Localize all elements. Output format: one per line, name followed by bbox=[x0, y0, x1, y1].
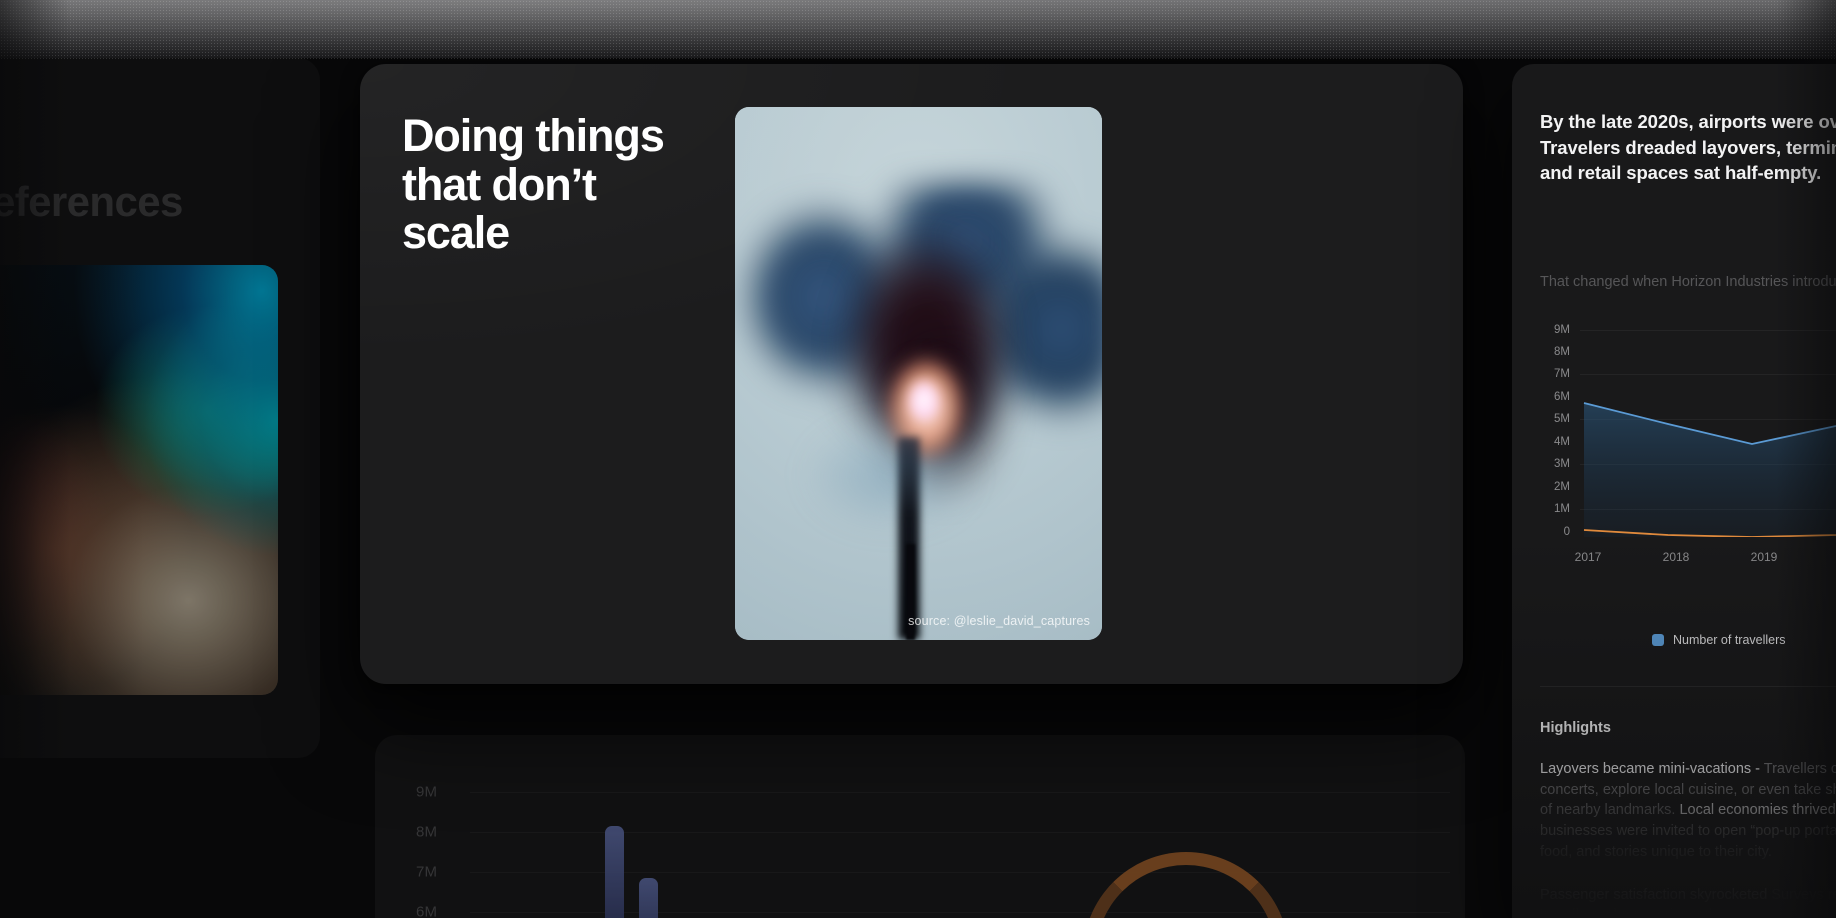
highlights-body: Layovers became mini-vacations - Travell… bbox=[1540, 759, 1836, 918]
divider bbox=[1540, 686, 1836, 687]
main-content-card: Doing things that don’t scale source: @l… bbox=[360, 64, 1463, 684]
right-panel-sub-text: That changed when Horizon Industries int… bbox=[1540, 272, 1836, 292]
highlight-item: Layovers became mini-vacations - Travell… bbox=[1540, 759, 1836, 863]
highlight-lead-2: Local economies thrived bbox=[1679, 802, 1836, 818]
y-tick-label: 5M bbox=[1540, 413, 1570, 425]
x-tick-label: 2018 bbox=[1663, 550, 1690, 564]
travellers-area bbox=[1584, 403, 1836, 537]
x-tick-label: 2017 bbox=[1575, 550, 1602, 564]
y-tick-label: 1M bbox=[1540, 503, 1570, 515]
y-tick-label: 0 bbox=[1540, 526, 1570, 538]
highlight-lead: Layovers became mini-vacations - bbox=[1540, 761, 1764, 777]
page-title: Doing things that don’t scale bbox=[402, 112, 702, 258]
gradient-dither bbox=[0, 265, 278, 695]
y-tick-label: 7M bbox=[1540, 368, 1570, 380]
bg-bar bbox=[605, 826, 624, 918]
y-tick-label: 3M bbox=[1540, 458, 1570, 470]
gradient-artwork-card[interactable] bbox=[0, 265, 278, 695]
y-tick-label: 9M bbox=[1540, 324, 1570, 336]
x-tick-label: 2019 bbox=[1751, 550, 1778, 564]
bg-bar bbox=[639, 878, 658, 918]
highlights-title: Highlights bbox=[1540, 720, 1611, 736]
photo-source-caption: source: @leslie_david_captures bbox=[908, 614, 1090, 628]
bg-axis-label: 8M bbox=[416, 824, 1450, 841]
background-heading: eferences bbox=[0, 178, 183, 226]
y-tick-label: 2M bbox=[1540, 481, 1570, 493]
bg-axis-label: 7M bbox=[416, 864, 1450, 881]
highlight-lead: Passenger satisfaction skyrocketed bbox=[1540, 887, 1771, 903]
top-noise-texture bbox=[0, 0, 1836, 60]
highlight-item: Passenger satisfaction skyrocketed Surve… bbox=[1540, 885, 1836, 918]
bg-axis-label: 6M bbox=[416, 904, 1450, 918]
y-tick-label: 4M bbox=[1540, 436, 1570, 448]
screenshot-root: eferences 9M 8M 7M 6M Doing things that … bbox=[0, 0, 1836, 918]
y-tick-label: 6M bbox=[1540, 391, 1570, 403]
background-bar-chart: 9M 8M 7M 6M bbox=[410, 780, 1450, 918]
chart-legend-item-travellers[interactable]: Number of travellers bbox=[1652, 633, 1786, 647]
flower-photo[interactable]: source: @leslie_david_captures bbox=[735, 107, 1102, 640]
chart-plot-area bbox=[1580, 322, 1836, 537]
y-tick-label: 8M bbox=[1540, 346, 1570, 358]
legend-label: Number of travellers bbox=[1673, 633, 1786, 647]
travellers-line-chart[interactable]: 9M 8M 7M 6M 5M 4M 3M 2M 1M 0 bbox=[1540, 322, 1836, 632]
legend-swatch-icon bbox=[1652, 634, 1664, 646]
right-panel-lead-text: By the late 2020s, airports were overcro… bbox=[1540, 109, 1836, 186]
right-side-panel: By the late 2020s, airports were overcro… bbox=[1512, 64, 1836, 918]
photo-grain bbox=[735, 107, 1102, 640]
bg-axis-label: 9M bbox=[416, 784, 1450, 801]
